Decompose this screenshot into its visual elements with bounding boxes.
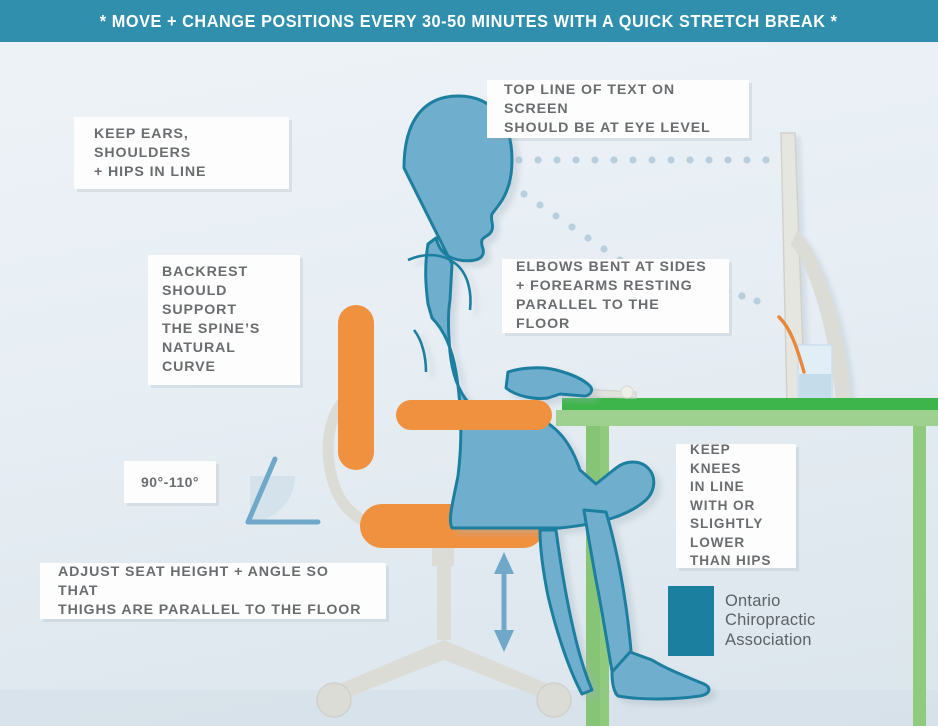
- callout-elbows-text: ELBOWS BENT AT SIDES + FOREARMS RESTING …: [516, 258, 715, 334]
- mouse: [621, 386, 633, 398]
- callout-backrest-text: BACKREST SHOULD SUPPORT THE SPINE’S NATU…: [162, 263, 260, 377]
- callout-ears-shoulders-hips: KEEP EARS, SHOULDERS + HIPS IN LINE: [74, 117, 289, 189]
- floor-band: [0, 690, 938, 726]
- callout-elbows: ELBOWS BENT AT SIDES + FOREARMS RESTING …: [502, 259, 729, 333]
- chair-cylinder-top: [432, 548, 454, 566]
- eye-level-dotted-line: [477, 156, 788, 163]
- oca-logo: Ontario Chiropractic Association: [668, 586, 815, 656]
- callout-seat-height-text: ADJUST SEAT HEIGHT + ANGLE SO THAT THIGH…: [58, 563, 368, 620]
- oca-logo-text: Ontario Chiropractic Association: [725, 592, 815, 651]
- person-arm-line: [414, 330, 426, 372]
- chair-armrest: [396, 400, 552, 430]
- angle-label-text: 90°-110°: [141, 474, 199, 490]
- angle-icon: [248, 459, 318, 522]
- ergonomics-infographic: * MOVE + CHANGE POSITIONS EVERY 30-50 MI…: [0, 0, 938, 726]
- person-forearm-hand: [506, 368, 592, 399]
- callout-ears-shoulders-hips-text: KEEP EARS, SHOULDERS + HIPS IN LINE: [94, 125, 269, 182]
- callout-screen-eye-level-text: TOP LINE OF TEXT ON SCREEN SHOULD BE AT …: [504, 81, 732, 138]
- chair-cylinder: [437, 566, 451, 640]
- person-foot: [612, 652, 709, 699]
- callout-knees-text: KEEP KNEES IN LINE WITH OR SLIGHTLY LOWE…: [690, 441, 782, 571]
- oca-logo-mark: [668, 586, 714, 656]
- seat-height-arrow: [494, 552, 514, 652]
- desk-top-edge: [562, 398, 938, 410]
- chair-castor-right: [537, 683, 571, 717]
- desk-leg-right: [913, 426, 926, 726]
- person-lower-leg-back: [540, 530, 592, 694]
- angle-label: 90°-110°: [124, 461, 216, 503]
- chair-castor-left: [317, 683, 351, 717]
- callout-screen-eye-level: TOP LINE OF TEXT ON SCREEN SHOULD BE AT …: [487, 80, 749, 138]
- callout-backrest: BACKREST SHOULD SUPPORT THE SPINE’S NATU…: [148, 255, 300, 385]
- callout-seat-height: ADJUST SEAT HEIGHT + ANGLE SO THAT THIGH…: [40, 563, 386, 619]
- callout-knees: KEEP KNEES IN LINE WITH OR SLIGHTLY LOWE…: [676, 444, 796, 568]
- chair-backrest: [338, 305, 374, 470]
